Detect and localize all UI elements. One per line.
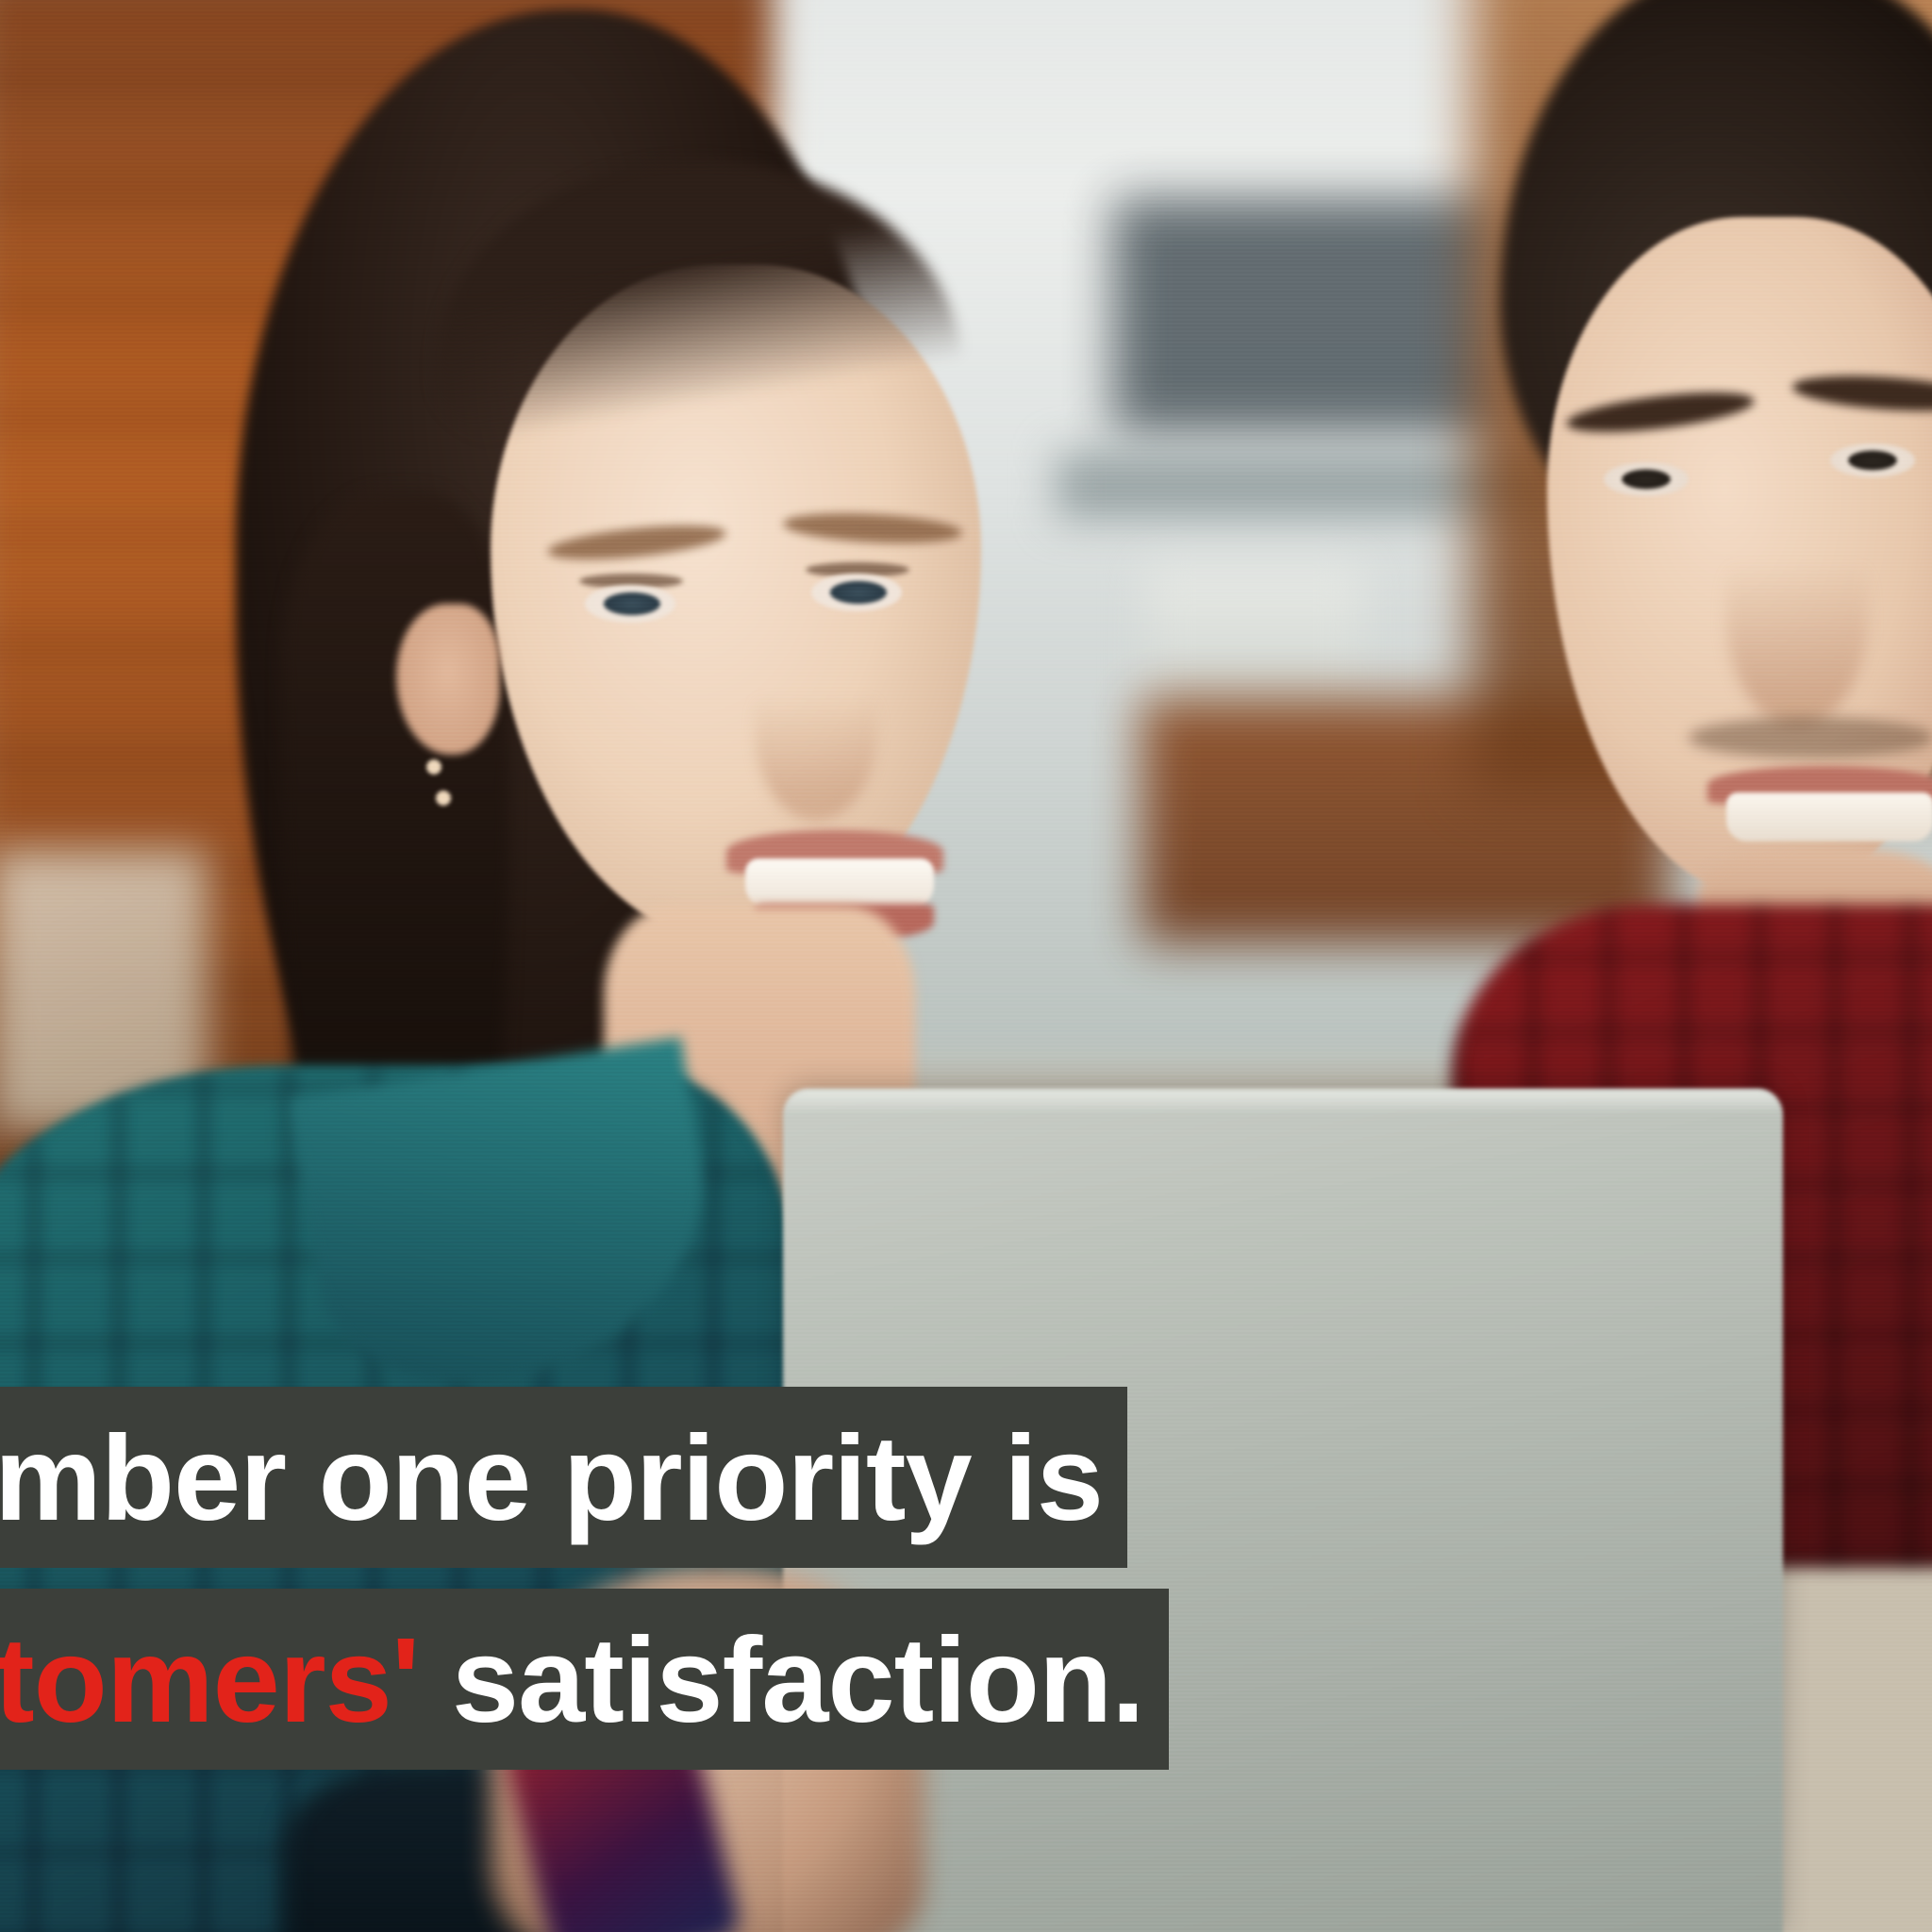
shelf-dark-panel	[1113, 198, 1509, 434]
man-eye	[1604, 462, 1689, 496]
woman-earring	[426, 759, 441, 774]
man-eye	[1830, 443, 1915, 477]
man-teeth	[1726, 792, 1932, 841]
video-frame: mber one priority is tomers' satisfactio…	[0, 0, 1932, 1932]
laptop-lid-edge	[783, 1090, 1783, 1114]
caption-line-2-text: satisfaction.	[419, 1613, 1143, 1748]
woman-eye	[585, 585, 675, 623]
man-nose	[1726, 509, 1868, 726]
woman-earring	[436, 791, 451, 806]
caption-line-2-highlight: tomers'	[0, 1613, 419, 1748]
woman-nose	[755, 641, 877, 821]
woman-teeth	[745, 858, 934, 909]
woman-ear	[396, 604, 500, 755]
caption-line-1: mber one priority is	[0, 1387, 1127, 1568]
caption-line-2: tomers' satisfaction.	[0, 1589, 1169, 1770]
caption-line-1-text: mber one priority is	[0, 1411, 1103, 1546]
man-moustache	[1689, 717, 1932, 758]
woman-eye	[811, 574, 902, 611]
caption-overlay: mber one priority is tomers' satisfactio…	[0, 1387, 1932, 1770]
